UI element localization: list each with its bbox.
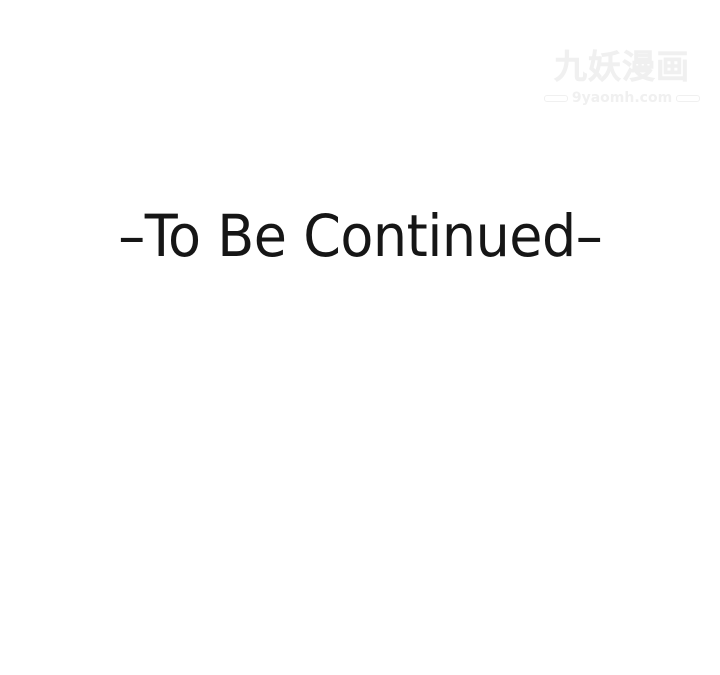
caption-container: –To Be Continued– <box>0 0 720 675</box>
comic-page: 九妖漫画 9yaomh.com –To Be Continued– <box>0 0 720 675</box>
to-be-continued-caption: –To Be Continued– <box>118 204 602 268</box>
